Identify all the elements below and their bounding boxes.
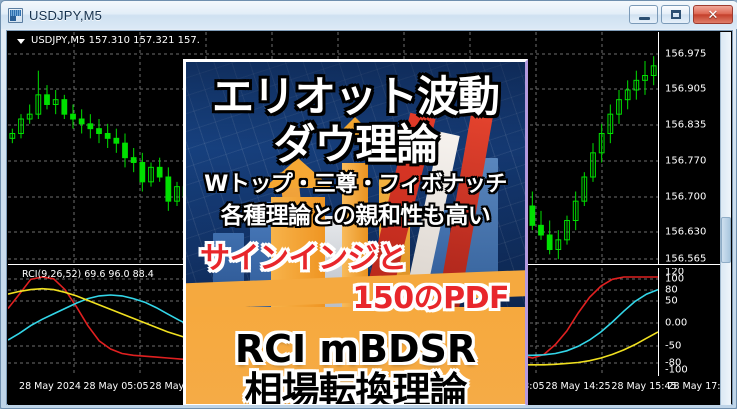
price-tick: 156.835 — [665, 120, 706, 131]
chart-client-area: 156.975 156.905 156.835 156.770 156.700 … — [6, 30, 733, 405]
banner-product-tagline: 相場転換理論 — [186, 372, 525, 405]
promo-banner-overlay[interactable]: エリオット波動 ダウ理論 Wトップ・三尊・フィボナッチ 各種理論との親和性も高い… — [183, 59, 528, 405]
time-tick: 28 May 05:05 — [83, 381, 148, 392]
symbol-label: USDJPY,M5 157.310 157.321 157. — [31, 35, 200, 46]
maximize-button[interactable] — [661, 5, 690, 24]
price-tick: 156.630 — [665, 227, 706, 238]
banner-redtext-1: サインインジと — [186, 244, 525, 274]
banner-headline-2: ダウ理論 — [186, 124, 525, 166]
pane-collapse-icon[interactable] — [17, 39, 25, 44]
time-tick: 28 May 14:25 — [545, 381, 610, 392]
maximize-icon — [671, 10, 681, 19]
indicator-tick: -100 — [665, 365, 688, 376]
window-controls: ✕ — [629, 5, 733, 24]
scrollbar-thumb[interactable] — [721, 217, 731, 263]
price-tick: 156.770 — [665, 156, 706, 167]
indicator-tick: -50 — [665, 341, 681, 352]
metatrader-window: USDJPY,M5 ✕ 156.975 156.905 156.835 156.… — [0, 0, 737, 409]
indicator-axis: 120 100 80 50 0.00 -50 -80 -100 — [658, 268, 722, 376]
time-tick: 28 May 2024 — [19, 381, 81, 392]
close-icon: ✕ — [694, 6, 732, 23]
minimize-button[interactable] — [629, 5, 658, 24]
banner-redtext-2: 150のPDF — [186, 284, 525, 314]
indicator-tick: 100 — [665, 274, 684, 285]
banner-product-name: RCI mBDSR — [186, 330, 525, 368]
indicator-tick: 0.00 — [665, 318, 687, 329]
price-tick: 156.975 — [665, 49, 706, 60]
price-tick: 156.565 — [665, 254, 706, 265]
indicator-tick: 80 — [665, 285, 678, 296]
banner-headline-1: エリオット波動 — [186, 76, 525, 118]
chart-canvas[interactable]: 156.975 156.905 156.835 156.770 156.700 … — [8, 32, 722, 405]
minimize-icon — [639, 17, 650, 20]
price-tick: 156.905 — [665, 84, 706, 95]
indicator-label: RCI(9,26,52) 69.6 96.0 88.4 — [22, 269, 154, 280]
title-bar: USDJPY,M5 ✕ — [1, 1, 737, 29]
price-axis: 156.975 156.905 156.835 156.770 156.700 … — [658, 32, 722, 264]
indicator-tick: 50 — [665, 296, 678, 307]
vertical-scrollbar[interactable] — [720, 32, 731, 405]
price-tick: 156.700 — [665, 192, 706, 203]
close-button[interactable]: ✕ — [693, 5, 733, 24]
time-tick: 28 May 17:05 — [667, 381, 722, 392]
banner-subtext-1: Wトップ・三尊・フィボナッチ — [186, 174, 525, 196]
chart-window-icon — [8, 8, 23, 23]
window-title: USDJPY,M5 — [29, 8, 102, 23]
banner-subtext-2: 各種理論との親和性も高い — [186, 205, 525, 228]
